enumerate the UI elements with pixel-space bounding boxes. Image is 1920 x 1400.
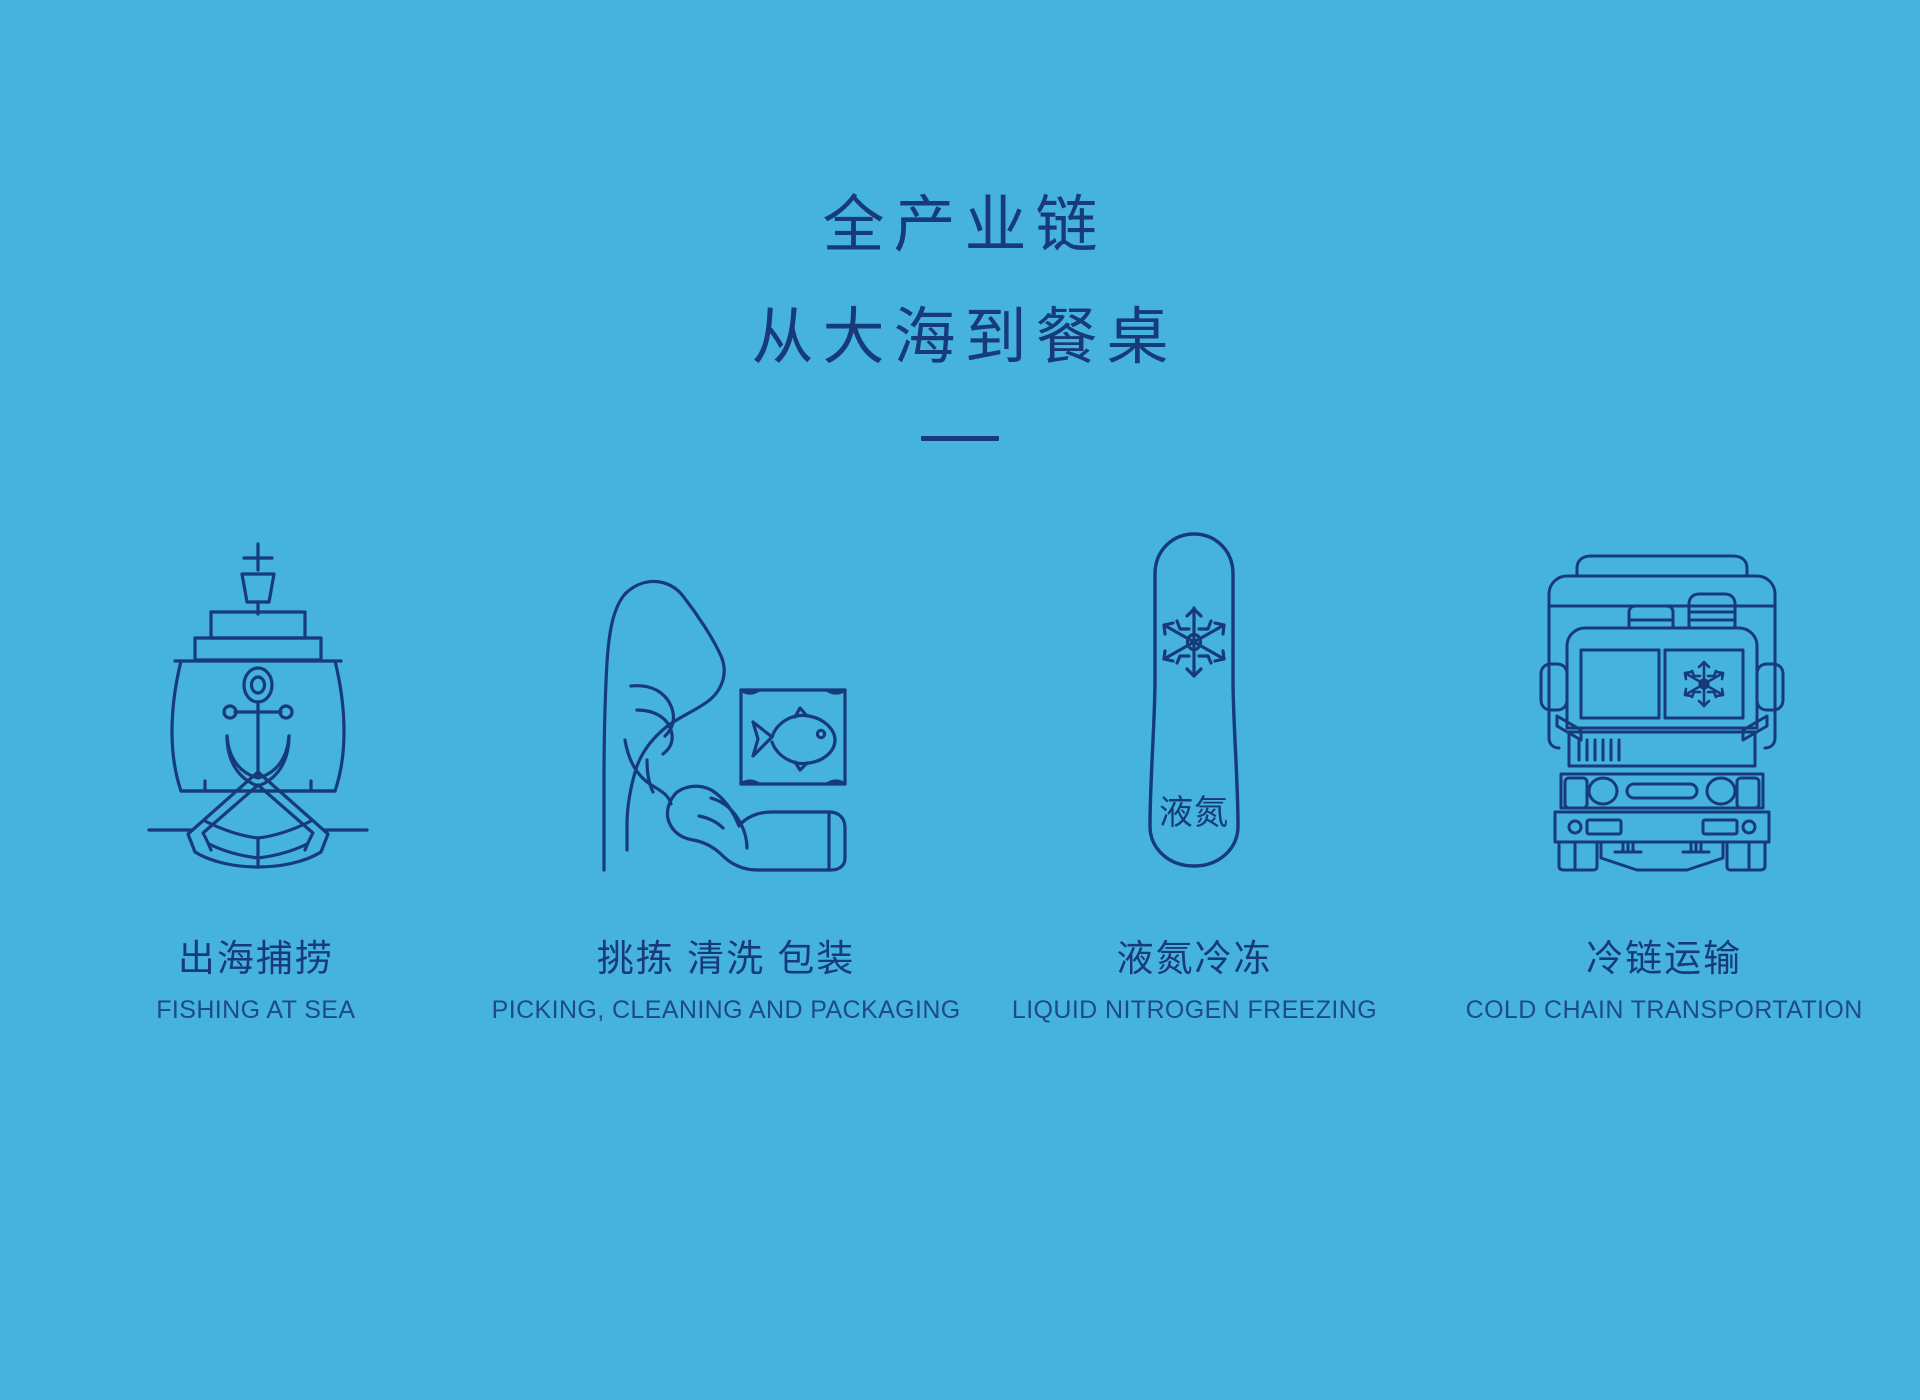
refrigerated-truck-icon: [1537, 550, 1787, 870]
step-cold-chain-transportation[interactable]: 冷链运输 COLD CHAIN TRANSPORTATION: [1428, 530, 1896, 1026]
step-liquid-nitrogen-freezing[interactable]: 液氮 液氮冷冻 LIQUID NITROGEN FREEZING: [961, 530, 1429, 1026]
label-box-2: 挑拣 清洗 包装 PICKING, CLEANING AND PACKAGING: [492, 936, 961, 1026]
icon-box-2: [581, 530, 871, 870]
snowflake-icon: [1685, 662, 1723, 706]
page-title-line-1: 全产业链: [0, 170, 1920, 282]
snowflake-icon: [1164, 608, 1224, 676]
step-label-en-2: PICKING, CLEANING AND PACKAGING: [492, 994, 961, 1026]
step-label-en-4: COLD CHAIN TRANSPORTATION: [1430, 994, 1898, 1026]
label-box-4: 冷链运输 COLD CHAIN TRANSPORTATION: [1430, 936, 1898, 1026]
liquid-nitrogen-tank-icon: 液氮: [1134, 530, 1254, 870]
step-label-cn-3: 液氮冷冻: [961, 936, 1429, 982]
label-box-1: 出海捕捞 FISHING AT SEA: [22, 936, 490, 1026]
label-box-3: 液氮冷冻 LIQUID NITROGEN FREEZING: [961, 936, 1429, 1026]
step-label-en-3: LIQUID NITROGEN FREEZING: [961, 994, 1429, 1026]
step-label-cn-4: 冷链运输: [1430, 936, 1898, 982]
poster-canvas: 全产业链 从大海到餐桌: [0, 0, 1920, 1400]
title-divider: [921, 436, 999, 441]
step-picking-cleaning-packaging[interactable]: 挑拣 清洗 包装 PICKING, CLEANING AND PACKAGING: [492, 530, 961, 1026]
title-divider-wrap: [0, 428, 1920, 448]
step-fishing-at-sea[interactable]: 出海捕捞 FISHING AT SEA: [24, 530, 492, 1026]
step-label-cn-1: 出海捕捞: [22, 936, 490, 982]
step-label-en-1: FISHING AT SEA: [22, 994, 490, 1026]
tank-text: 液氮: [1159, 794, 1229, 832]
header: 全产业链 从大海到餐桌: [0, 170, 1920, 448]
step-label-cn-2: 挑拣 清洗 包装: [492, 936, 961, 982]
icon-box-3: 液氮: [1134, 530, 1254, 870]
hands-with-packaged-fish-icon: [581, 570, 871, 870]
icon-box-4: [1537, 530, 1787, 870]
process-steps: 出海捕捞 FISHING AT SEA: [0, 530, 1920, 1026]
page-title-line-2: 从大海到餐桌: [0, 282, 1920, 394]
icon-box-1: [143, 530, 373, 870]
fishing-boat-icon: [143, 540, 373, 870]
